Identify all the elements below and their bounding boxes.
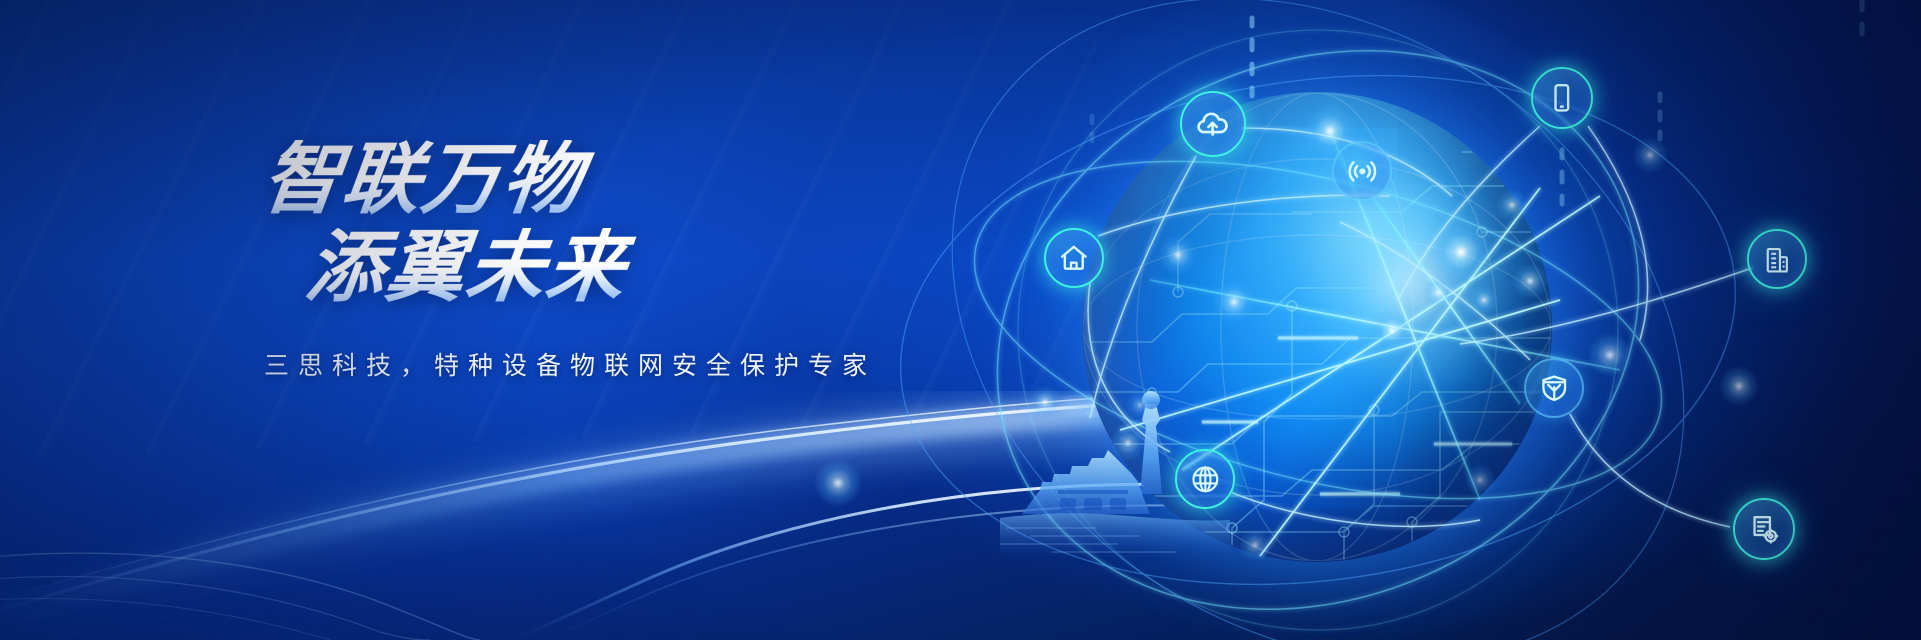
hero-banner: 智联万物 添翼未来 三思科技，特种设备物联网安全保护专家 (0, 0, 1921, 640)
background-vignette (0, 0, 1921, 640)
